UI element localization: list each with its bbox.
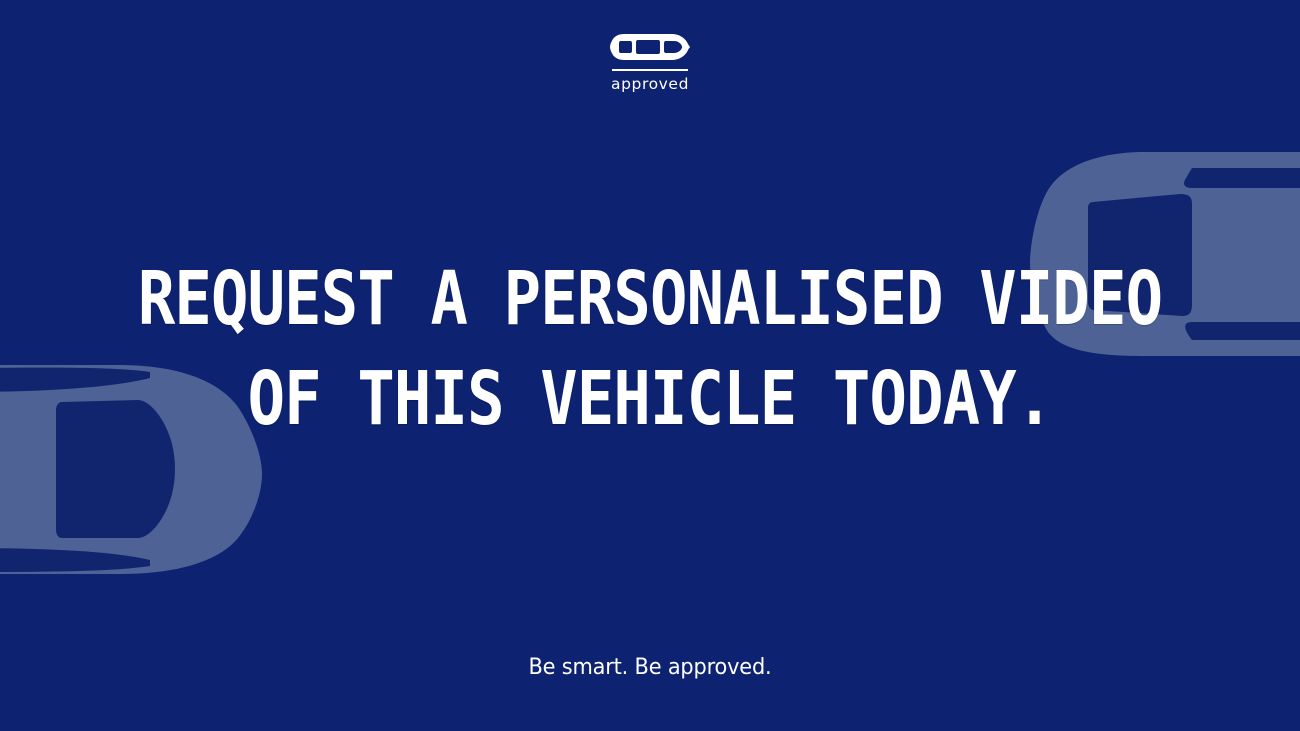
brand-wordmark: approved	[611, 77, 689, 93]
promo-banner: approved REQUEST A PERSONALISED VIDEO OF…	[0, 0, 1300, 731]
tagline: Be smart. Be approved.	[33, 655, 1268, 680]
headline-line-1: REQUEST A PERSONALISED VIDEO	[104, 262, 1196, 336]
headline: REQUEST A PERSONALISED VIDEO OF THIS VEH…	[0, 262, 1300, 436]
brand-logo: approved	[0, 30, 1300, 93]
car-top-view-icon	[610, 30, 690, 64]
brand-divider	[612, 69, 688, 71]
headline-line-2: OF THIS VEHICLE TODAY.	[104, 362, 1196, 436]
